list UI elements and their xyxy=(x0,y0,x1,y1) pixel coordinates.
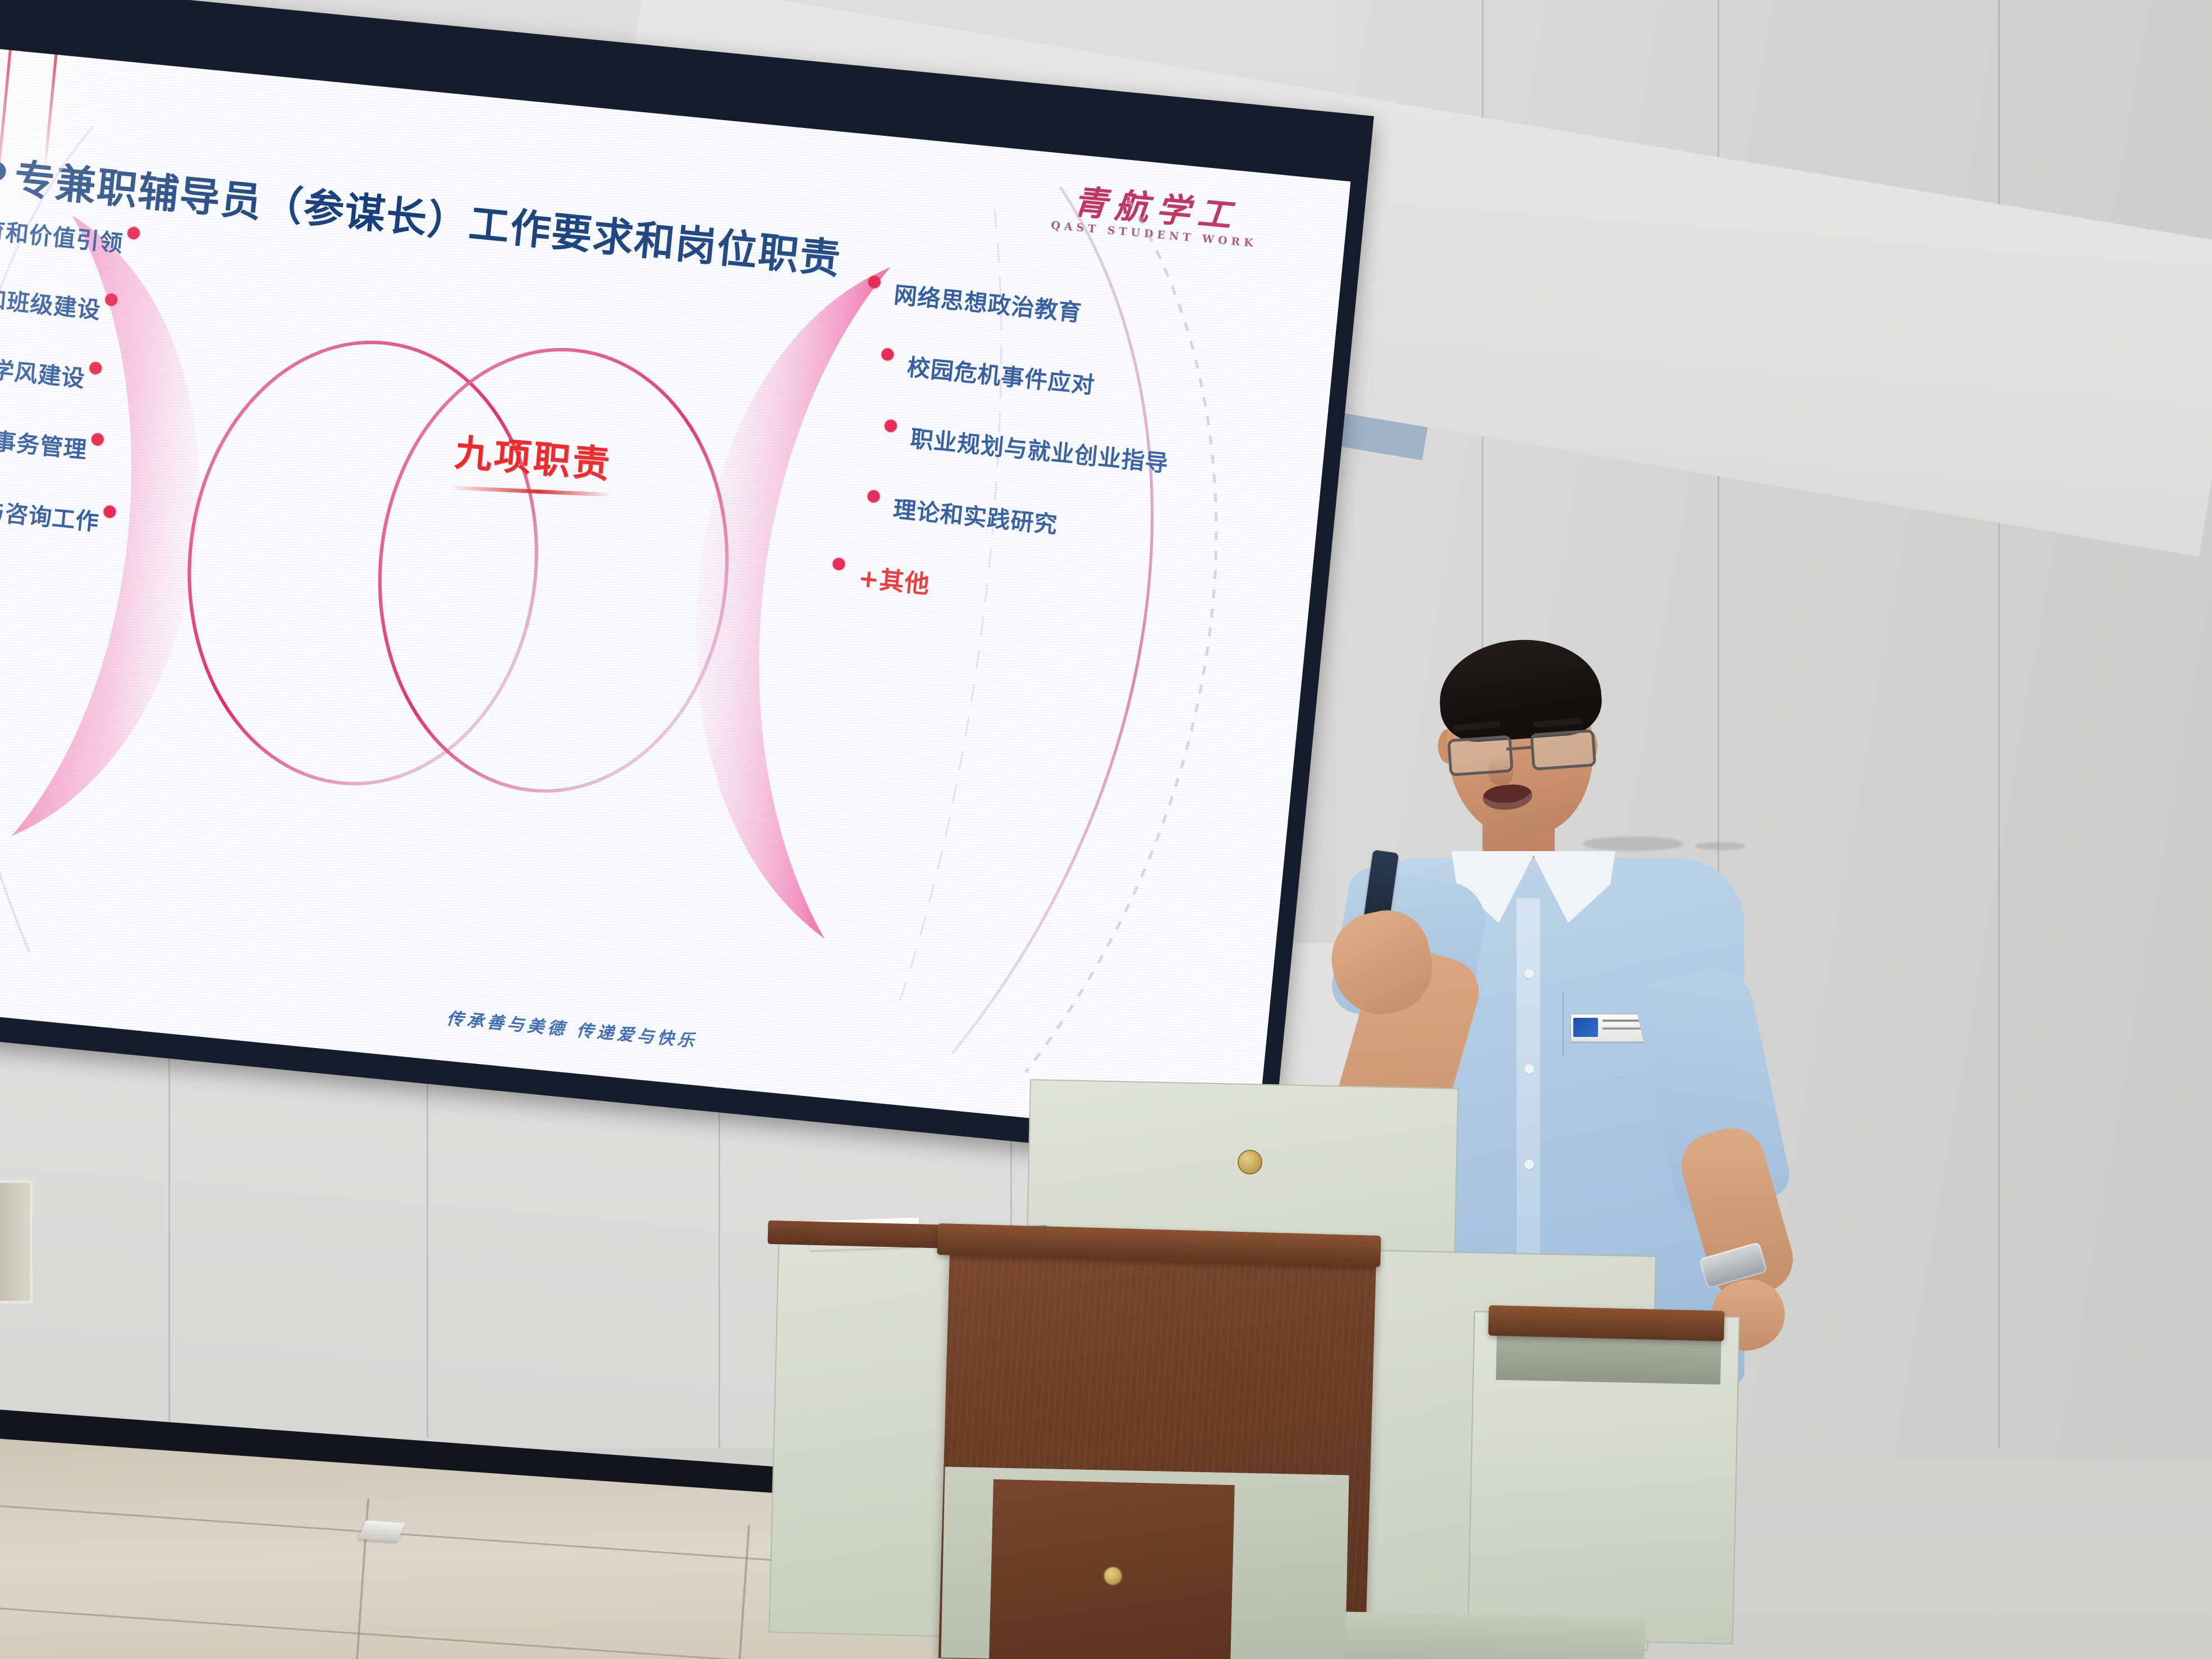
pedestal-lock-icon[interactable] xyxy=(1103,1566,1123,1586)
screen-surface: 专兼职辅导员（参谋长）工作要求和岗位职责 青航学工 QAST STUDENT W… xyxy=(0,47,1350,1140)
presentation-slide: 专兼职辅导员（参谋长）工作要求和岗位职责 青航学工 QAST STUDENT W… xyxy=(0,47,1350,1140)
shirt-button xyxy=(1524,969,1534,979)
led-screen: 专兼职辅导员（参谋长）工作要求和岗位职责 青航学工 QAST STUDENT W… xyxy=(0,0,1374,1167)
podium-left-rail xyxy=(768,1221,961,1249)
podium-right-rail xyxy=(1488,1305,1724,1341)
nine-duties-venn-diagram xyxy=(0,47,1350,1140)
podium-pedestal-wood xyxy=(989,1479,1235,1659)
glasses-lens-right xyxy=(1530,729,1596,771)
center-label: 九项职责 xyxy=(450,422,617,500)
wall-vent-panel xyxy=(0,1180,33,1304)
lecture-hall-scene: 专兼职辅导员（参谋长）工作要求和岗位职责 青航学工 QAST STUDENT W… xyxy=(0,0,2212,1659)
podium-left-side-panel xyxy=(768,1237,959,1637)
badge-logo-icon xyxy=(1573,1018,1598,1037)
podium-lock-icon[interactable] xyxy=(1238,1150,1262,1174)
floor-object xyxy=(358,1520,405,1542)
shirt-button xyxy=(1524,1064,1534,1074)
duty-label-extra: +其他 xyxy=(857,557,932,600)
nose xyxy=(1489,757,1513,785)
